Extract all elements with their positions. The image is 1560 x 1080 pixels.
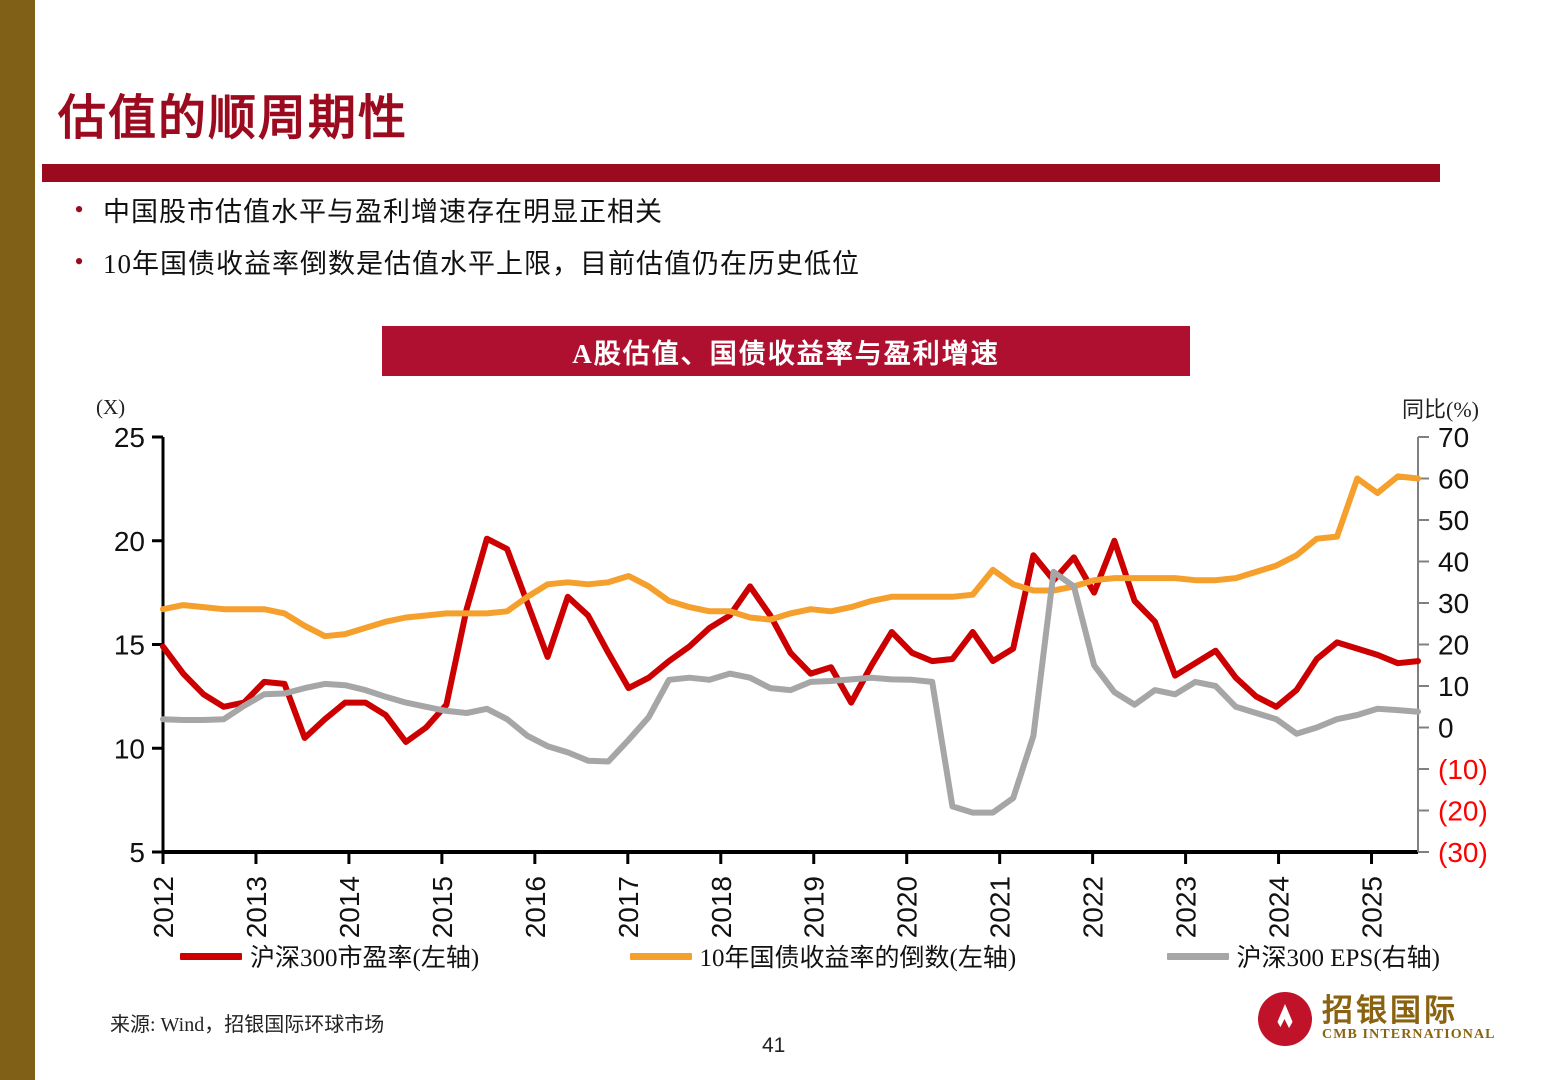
source-note: 来源: Wind，招银国际环球市场: [110, 1008, 384, 1037]
bullet-marker-icon: •: [55, 195, 103, 225]
legend-swatch-pe: [180, 953, 242, 960]
x-axis-tick-label: 2015: [427, 876, 458, 938]
series-line-pe: [163, 539, 1418, 742]
page-title: 估值的顺周期性: [58, 78, 408, 148]
legend-csi300-eps: 沪深300 EPS(右轴): [1167, 938, 1440, 974]
x-axis-tick-label: 2016: [520, 876, 551, 938]
x-axis-tick-label: 2012: [148, 876, 179, 938]
left-axis-tick-label: 25: [114, 422, 145, 453]
right-axis-tick-label: (20): [1438, 796, 1488, 827]
x-axis-tick-label: 2019: [799, 876, 830, 938]
x-axis-tick-label: 2025: [1357, 876, 1388, 938]
chart-svg: 252015105706050403020100(10)(20)(30)2012…: [0, 385, 1560, 945]
bullet-list: • 中国股市估值水平与盈利增速存在明显正相关 • 10年国债收益率倒数是估值水平…: [55, 195, 1455, 299]
series-line-bond: [163, 476, 1418, 636]
list-item: • 中国股市估值水平与盈利增速存在明显正相关: [55, 195, 1455, 229]
chart-legend: 沪深300市盈率(左轴) 10年国债收益率的倒数(左轴) 沪深300 EPS(右…: [180, 938, 1440, 974]
right-axis-tick-label: 60: [1438, 464, 1469, 495]
right-axis-tick-label: 0: [1438, 713, 1454, 744]
company-logo: 招银国际 CMB INTERNATIONAL: [1258, 992, 1496, 1046]
title-divider: [42, 164, 1440, 182]
x-axis-tick-label: 2014: [334, 876, 365, 938]
bullet-text: 中国股市估值水平与盈利增速存在明显正相关: [103, 195, 663, 229]
left-axis-tick-label: 20: [114, 526, 145, 557]
legend-label-pe: 沪深300市盈率(左轴): [250, 938, 479, 974]
right-axis-tick-label: (30): [1438, 837, 1488, 868]
logo-chinese-name: 招银国际: [1322, 995, 1496, 1028]
series-line-eps: [163, 572, 1418, 813]
legend-swatch-eps: [1167, 953, 1229, 960]
logo-english-name: CMB INTERNATIONAL: [1322, 1027, 1496, 1043]
legend-swatch-bond: [630, 953, 692, 960]
cmb-mountain-icon: [1265, 1000, 1305, 1038]
left-axis-tick-label: 15: [114, 630, 145, 661]
right-axis-tick-label: 50: [1438, 505, 1469, 536]
cmb-logo-mark-icon: [1258, 992, 1312, 1046]
left-axis-tick-label: 10: [114, 733, 145, 764]
list-item: • 10年国债收益率倒数是估值水平上限，目前估值仍在历史低位: [55, 247, 1455, 281]
bullet-text: 10年国债收益率倒数是估值水平上限，目前估值仍在历史低位: [103, 247, 860, 281]
x-axis-tick-label: 2018: [706, 876, 737, 938]
x-axis-tick-label: 2023: [1171, 876, 1202, 938]
chart-title-text: A股估值、国债收益率与盈利增速: [572, 332, 1000, 371]
x-axis-tick-label: 2020: [892, 876, 923, 938]
right-axis-tick-label: 10: [1438, 671, 1469, 702]
x-axis-tick-label: 2022: [1078, 876, 1109, 938]
right-axis-tick-label: 20: [1438, 630, 1469, 661]
logo-text-block: 招银国际 CMB INTERNATIONAL: [1322, 995, 1496, 1044]
right-axis-tick-label: (10): [1438, 754, 1488, 785]
legend-label-eps: 沪深300 EPS(右轴): [1237, 938, 1440, 974]
page-number: 41: [762, 1034, 785, 1058]
legend-csi300-pe: 沪深300市盈率(左轴): [180, 938, 479, 974]
right-axis-tick-label: 40: [1438, 547, 1469, 578]
right-axis-tick-label: 70: [1438, 422, 1469, 453]
x-axis-tick-label: 2021: [985, 876, 1016, 938]
legend-label-bond: 10年国债收益率的倒数(左轴): [700, 938, 1017, 974]
legend-bond-yield-inverse: 10年国债收益率的倒数(左轴): [630, 938, 1017, 974]
right-axis-tick-label: 30: [1438, 588, 1469, 619]
x-axis-tick-label: 2024: [1264, 876, 1295, 938]
chart-title-banner: A股估值、国债收益率与盈利增速: [382, 326, 1190, 376]
x-axis-tick-label: 2013: [241, 876, 272, 938]
bullet-marker-icon: •: [55, 247, 103, 277]
x-axis-tick-label: 2017: [613, 876, 644, 938]
chart-plot-area: 252015105706050403020100(10)(20)(30)2012…: [0, 385, 1560, 945]
left-axis-tick-label: 5: [129, 837, 145, 868]
